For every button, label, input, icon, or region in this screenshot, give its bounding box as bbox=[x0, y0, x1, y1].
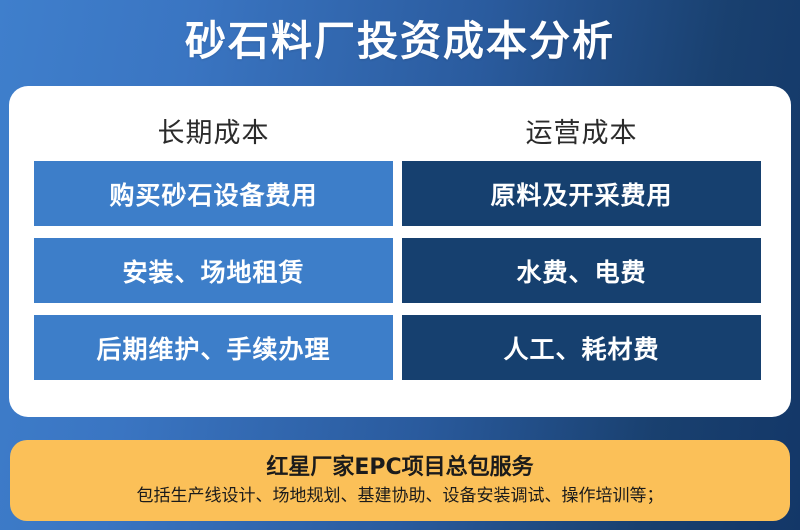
epc-service-banner[interactable]: 红星厂家EPC项目总包服务 包括生产线设计、场地规划、基建协助、设备安装调试、操… bbox=[10, 440, 790, 521]
column-header-longterm: 长期成本 bbox=[34, 100, 393, 161]
epc-banner-subtitle: 包括生产线设计、场地规划、基建协助、设备安装调试、操作培训等； bbox=[137, 487, 664, 506]
cost-item-operating-3[interactable]: 人工、耗材费 bbox=[402, 315, 761, 380]
cost-item-operating-2[interactable]: 水费、电费 bbox=[402, 238, 761, 303]
epc-banner-title: 红星厂家EPC项目总包服务 bbox=[266, 456, 533, 480]
cost-column-longterm: 长期成本 购买砂石设备费用 安装、场地租赁 后期维护、手续办理 bbox=[34, 100, 393, 380]
cost-item-operating-1[interactable]: 原料及开采费用 bbox=[402, 161, 761, 226]
page-title: 砂石料厂投资成本分析 bbox=[185, 21, 615, 62]
cost-item-longterm-2[interactable]: 安装、场地租赁 bbox=[34, 238, 393, 303]
infographic-root: 砂石料厂投资成本分析 长期成本 购买砂石设备费用 安装、场地租赁 后期维护、手续… bbox=[0, 0, 800, 530]
cost-item-longterm-3[interactable]: 后期维护、手续办理 bbox=[34, 315, 393, 380]
cost-item-longterm-1[interactable]: 购买砂石设备费用 bbox=[34, 161, 393, 226]
cost-comparison-card: 长期成本 购买砂石设备费用 安装、场地租赁 后期维护、手续办理 运营成本 原料及… bbox=[9, 86, 791, 417]
cost-columns: 长期成本 购买砂石设备费用 安装、场地租赁 后期维护、手续办理 运营成本 原料及… bbox=[34, 100, 766, 380]
cost-column-operating: 运营成本 原料及开采费用 水费、电费 人工、耗材费 bbox=[402, 100, 761, 380]
column-header-operating: 运营成本 bbox=[402, 100, 761, 161]
title-bar: 砂石料厂投资成本分析 bbox=[0, 0, 800, 82]
